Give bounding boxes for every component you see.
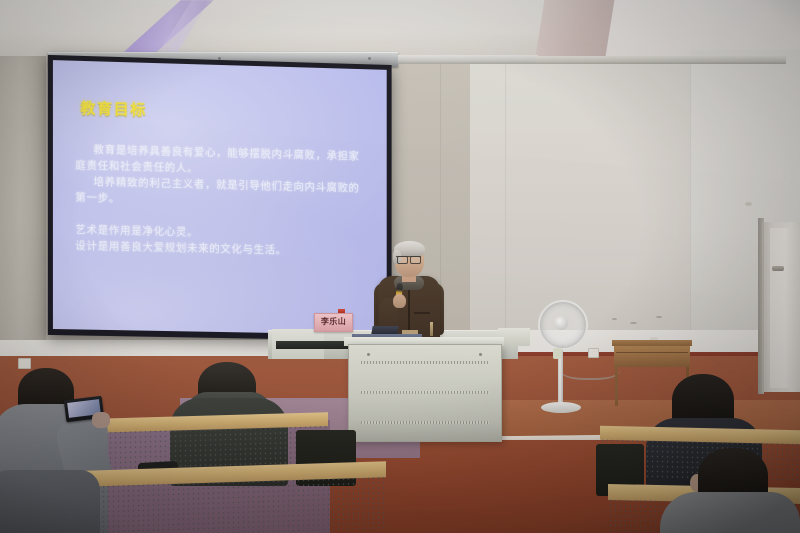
wall-seam bbox=[690, 56, 691, 351]
slide-tail: 艺术是作用是净化心灵。 设计是用善良大爱规划未来的文化与生活。 bbox=[75, 222, 365, 260]
wall-mark bbox=[630, 322, 637, 324]
roller-screw bbox=[368, 57, 371, 60]
table-drawer-line bbox=[616, 352, 688, 353]
ceiling-beam-wedge bbox=[536, 0, 615, 56]
lectern-screw bbox=[479, 353, 482, 356]
power-outlet bbox=[18, 358, 31, 369]
lectern-vent bbox=[361, 391, 489, 394]
jacket-pocket bbox=[414, 312, 430, 314]
table-object bbox=[650, 337, 658, 340]
slide-body-line: 培养精致的利己主义者，就是引导他们走向内斗腐败的第一步。 bbox=[75, 173, 365, 212]
placard-name: 李乐山 bbox=[315, 317, 352, 326]
projection-screen: 教育目标 教育是培养具善良有爱心，能够摆脱内斗腐败，承担家庭责任和社会责任的人。… bbox=[48, 55, 392, 341]
wall-mark bbox=[612, 318, 617, 320]
student-desk-front bbox=[86, 475, 386, 533]
classroom-door[interactable] bbox=[770, 228, 800, 388]
glasses-icon bbox=[396, 256, 421, 262]
wall-seam bbox=[505, 60, 506, 350]
fan-hub bbox=[554, 316, 568, 330]
lecture-hall-photo: 教育目标 教育是培养具善良有爱心，能够摆脱内斗腐败，承担家庭责任和社会责任的人。… bbox=[0, 0, 800, 533]
attendee-hand bbox=[92, 412, 110, 428]
lectern-vent bbox=[361, 421, 489, 424]
fan-control-box[interactable] bbox=[553, 348, 562, 359]
ceiling-rail-mid bbox=[398, 55, 538, 64]
projected-slide: 教育目标 教育是培养具善良有爱心，能够摆脱内斗腐败，承担家庭责任和社会责任的人。… bbox=[53, 60, 387, 335]
ceiling-rail-right bbox=[536, 56, 786, 64]
list-item bbox=[0, 470, 100, 533]
slide-title: 教育目标 bbox=[80, 97, 147, 120]
table-leg bbox=[615, 366, 618, 406]
left-wall-pier bbox=[0, 56, 46, 356]
wall-mark bbox=[656, 316, 662, 318]
fan-base bbox=[541, 402, 581, 413]
name-placard: 李乐山 bbox=[314, 313, 353, 332]
lectern-cabinet[interactable] bbox=[348, 344, 502, 442]
lectern-screw bbox=[367, 353, 370, 356]
speaker-hand bbox=[393, 294, 406, 308]
laptop-on-desk bbox=[371, 326, 398, 334]
jacket-zipper bbox=[408, 288, 410, 336]
slide-body: 教育是培养具善良有爱心，能够摆脱内斗腐败，承担家庭责任和社会责任的人。 培养精致… bbox=[75, 141, 365, 212]
power-cable bbox=[560, 356, 620, 380]
side-table-body bbox=[614, 345, 690, 367]
wall-hook bbox=[745, 202, 752, 206]
lectern-vent bbox=[361, 361, 489, 364]
door-handle[interactable] bbox=[772, 266, 784, 271]
side-table-top bbox=[612, 340, 692, 346]
list-item bbox=[660, 492, 800, 533]
microphone-stand bbox=[430, 322, 433, 336]
